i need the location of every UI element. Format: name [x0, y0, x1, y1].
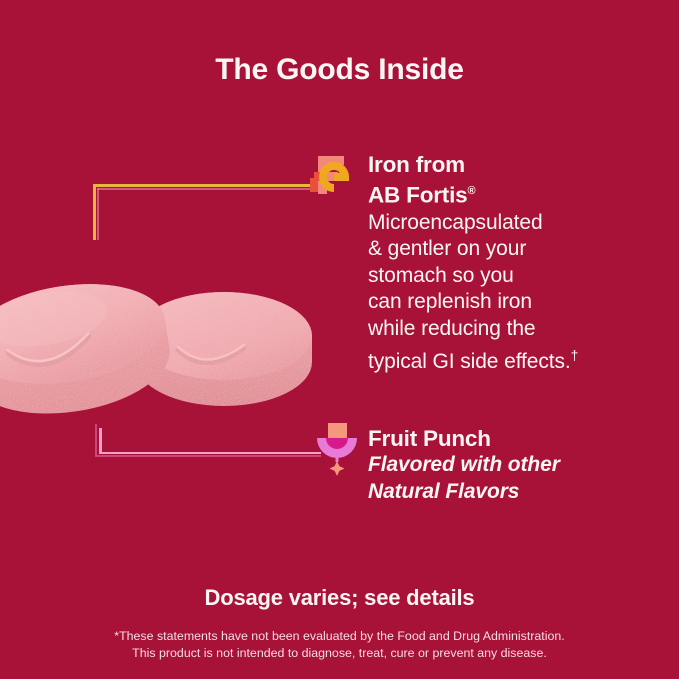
bullet-fruit-punch-body: Flavored with other Natural Flavors [368, 452, 668, 505]
bullet-iron-text: Iron from AB Fortis® Microencapsulated &… [368, 152, 668, 376]
disclaimer-line-1: *These statements have not been evaluate… [0, 628, 679, 645]
bullet-iron-heading: Iron from AB Fortis® [368, 152, 668, 209]
bullet-iron-body-line-5: while reducing the [368, 317, 535, 340]
bullet-iron-heading-line2: AB Fortis [368, 183, 467, 208]
connector-line-gold-horizontal [93, 184, 315, 187]
bullet-iron-body: Microencapsulated & gentler on your stom… [368, 210, 668, 376]
fruit-punch-icon [314, 422, 360, 483]
bullet-iron-body-line-1: Microencapsulated [368, 211, 543, 234]
connector-line-gold-inner-horizontal [97, 188, 315, 190]
infographic-canvas: The Goods Inside [0, 0, 679, 679]
page-title: The Goods Inside [0, 53, 679, 87]
legal-disclaimer: *These statements have not been evaluate… [0, 628, 679, 661]
bullet-fruit-punch-text: Fruit Punch Flavored with other Natural … [368, 426, 668, 505]
connector-line-pink-inner-horizontal [95, 455, 321, 457]
connector-line-pink-inner-vertical [95, 424, 97, 456]
bullet-iron-body-line-3: stomach so you [368, 264, 514, 287]
dosage-note: Dosage varies; see details [0, 585, 679, 611]
registered-trademark-symbol: ® [467, 185, 475, 197]
iron-fe-icon [314, 152, 360, 207]
connector-line-gold-inner-vertical [97, 188, 99, 240]
dagger-symbol: † [571, 347, 579, 363]
bullet-iron-body-line-2: & gentler on your [368, 237, 526, 260]
disclaimer-line-2: This product is not intended to diagnose… [0, 645, 679, 662]
bullet-fruit-punch-heading: Fruit Punch [368, 426, 668, 452]
bullet-iron-heading-line1: Iron from [368, 152, 465, 177]
product-tablets-image [0, 238, 318, 418]
connector-line-pink-vertical [99, 428, 102, 454]
bullet-iron-body-line-6: typical GI side effects. [368, 350, 571, 373]
bullet-iron-body-line-4: can replenish iron [368, 290, 532, 313]
bullet-fruit-punch-body-line-1: Flavored with other [368, 453, 560, 476]
connector-line-pink-horizontal [99, 452, 321, 455]
connector-line-gold-vertical [93, 184, 96, 240]
bullet-fruit-punch-body-line-2: Natural Flavors [368, 480, 519, 503]
